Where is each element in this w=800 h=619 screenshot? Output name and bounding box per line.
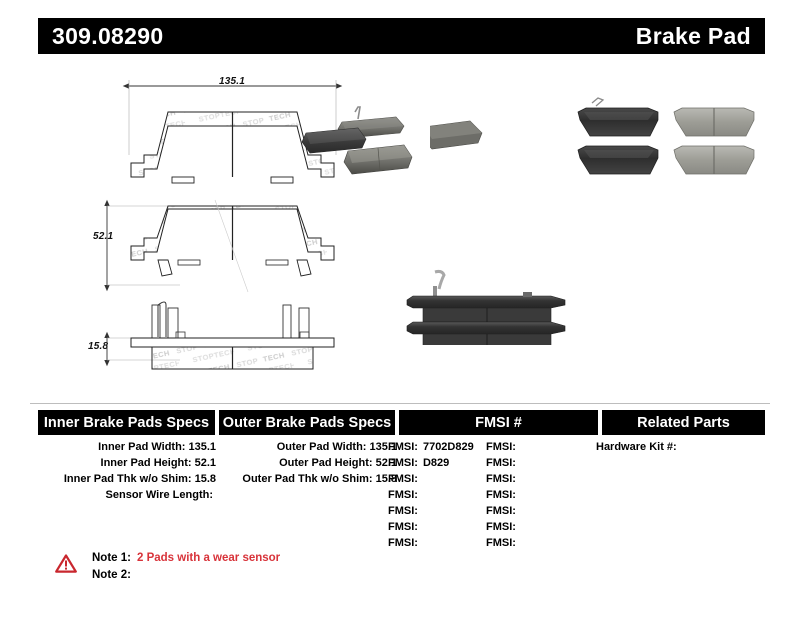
inner-specs-list: Inner Pad Width:135.1 Inner Pad Height:5… [38, 439, 216, 503]
related-parts-list: Hardware Kit #: [596, 439, 766, 455]
spec-label: Outer Pad Width: [277, 441, 367, 453]
spec-value: 52.1 [195, 457, 216, 469]
fmsi-label: FMSI: [388, 473, 418, 485]
fmsi-row: FMSI: [486, 471, 584, 487]
fmsi-row: FMSI:D829 [388, 455, 486, 471]
product-photo-pads-angled [300, 95, 440, 185]
fmsi-row: FMSI:7702D829 [388, 439, 486, 455]
fmsi-label: FMSI: [486, 473, 516, 485]
spec-row: Inner Pad Width:135.1 [38, 439, 216, 455]
note-2-row: Note 2: [92, 567, 280, 584]
part-number: 309.08290 [52, 23, 163, 50]
fmsi-column-left: FMSI:7702D829 FMSI:D829 FMSI: FMSI: FMSI… [388, 439, 486, 551]
fmsi-row: FMSI: [486, 535, 584, 551]
fmsi-row: FMSI: [486, 519, 584, 535]
spec-label: Sensor Wire Length: [106, 489, 213, 501]
fmsi-column-right: FMSI: FMSI: FMSI: FMSI: FMSI: FMSI: FMSI… [486, 439, 584, 551]
spec-row: Sensor Wire Length: [38, 487, 216, 503]
fmsi-label: FMSI: [486, 457, 516, 469]
outer-specs-list: Outer Pad Width:135.1 Outer Pad Height:5… [220, 439, 397, 487]
spec-label: Outer Pad Thk w/o Shim: [242, 473, 372, 485]
fmsi-label: FMSI: [388, 441, 418, 453]
spec-label: Inner Pad Thk w/o Shim: [64, 473, 192, 485]
related-parts-row: Hardware Kit #: [596, 439, 766, 455]
notes-area: Note 1:2 Pads with a wear sensor Note 2: [55, 550, 280, 584]
fmsi-label: FMSI: [486, 489, 516, 501]
fmsi-label: FMSI: [388, 457, 418, 469]
column-header-outer-specs: Outer Brake Pads Specs [219, 410, 395, 435]
spec-row: Outer Pad Thk w/o Shim:15.8 [220, 471, 397, 487]
fmsi-row: FMSI: [388, 471, 486, 487]
spec-row: Outer Pad Height:52.1 [220, 455, 397, 471]
fmsi-label: FMSI: [388, 521, 418, 533]
header-banner: 309.08290 Brake Pad [38, 18, 765, 54]
product-type-label: Brake Pad [636, 23, 751, 50]
fmsi-row: FMSI: [388, 535, 486, 551]
fmsi-value: 7702D829 [423, 441, 474, 453]
column-header-related-parts: Related Parts [602, 410, 765, 435]
note-2-label: Note 2: [92, 569, 131, 581]
fmsi-label: FMSI: [388, 489, 418, 501]
product-photo-pads-grid [570, 90, 770, 195]
fmsi-row: FMSI: [388, 519, 486, 535]
fmsi-label: FMSI: [486, 505, 516, 517]
column-header-inner-specs: Inner Brake Pads Specs [38, 410, 215, 435]
note-1-row: Note 1:2 Pads with a wear sensor [92, 550, 280, 567]
spec-label: Outer Pad Height: [279, 457, 373, 469]
fmsi-label: FMSI: [388, 505, 418, 517]
fmsi-row: FMSI: [388, 487, 486, 503]
product-photo-pad-partial [430, 115, 490, 160]
note-1-label: Note 1: [92, 552, 131, 564]
fmsi-list: FMSI:7702D829 FMSI:D829 FMSI: FMSI: FMSI… [388, 439, 588, 551]
note-1-text: 2 Pads with a wear sensor [137, 552, 280, 564]
related-parts-label: Hardware Kit #: [596, 441, 677, 453]
spec-row: Inner Pad Thk w/o Shim:15.8 [38, 471, 216, 487]
notes-text-block: Note 1:2 Pads with a wear sensor Note 2: [92, 550, 280, 584]
drawing-area: 135.1 52.1 15.8 STOP TECH STOPTECH [0, 60, 800, 395]
fmsi-label: FMSI: [486, 537, 516, 549]
fmsi-row: FMSI: [486, 455, 584, 471]
warning-triangle-icon [55, 554, 77, 578]
spec-row: Inner Pad Height:52.1 [38, 455, 216, 471]
spec-label: Inner Pad Width: [98, 441, 185, 453]
fmsi-label: FMSI: [486, 441, 516, 453]
table-top-rule [30, 403, 770, 404]
fmsi-label: FMSI: [388, 537, 418, 549]
fmsi-row: FMSI: [388, 503, 486, 519]
spec-row: Outer Pad Width:135.1 [220, 439, 397, 455]
fmsi-label: FMSI: [486, 521, 516, 533]
fmsi-row: FMSI: [486, 439, 584, 455]
product-photo-pads-edge-view [395, 260, 585, 345]
fmsi-row: FMSI: [486, 503, 584, 519]
fmsi-value: D829 [423, 457, 449, 469]
column-header-fmsi: FMSI # [399, 410, 598, 435]
spec-value: 15.8 [195, 473, 216, 485]
spec-label: Inner Pad Height: [101, 457, 192, 469]
fmsi-row: FMSI: [486, 487, 584, 503]
spec-value: 135.1 [188, 441, 216, 453]
table-header-row: Inner Brake Pads Specs Outer Brake Pads … [38, 410, 765, 435]
